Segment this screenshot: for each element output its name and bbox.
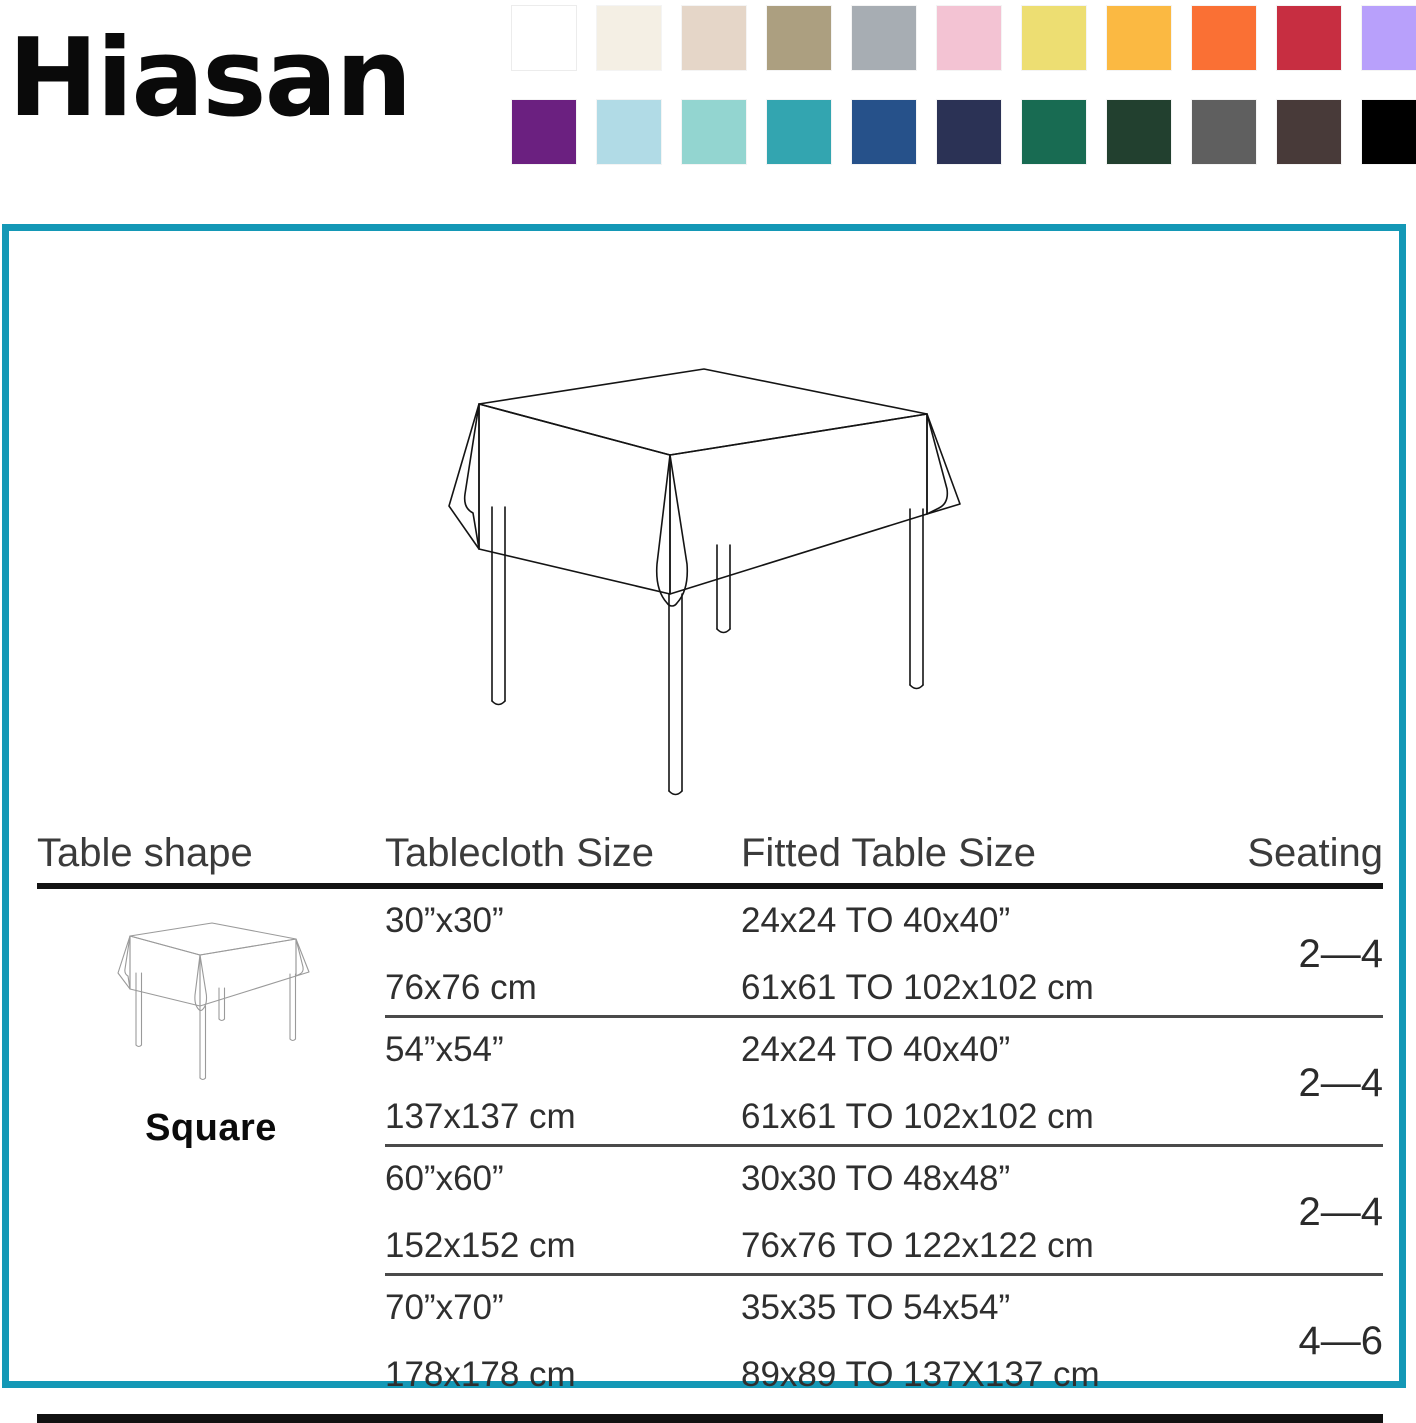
shape-cell-square: Square: [37, 889, 385, 1402]
fit-size-inches: 35x35 TO 54x54”: [741, 1290, 1189, 1325]
swatch-green[interactable]: [1022, 100, 1086, 164]
swatch-teal[interactable]: [767, 100, 831, 164]
square-table-illustration-icon: [427, 349, 977, 809]
cell-tablecloth-size: 30”x30” 76x76 cm: [385, 903, 741, 1005]
column-header-table-shape: Table shape: [37, 833, 385, 873]
swatch-yellow[interactable]: [1022, 6, 1086, 70]
seating-value: 2—4: [1299, 1063, 1384, 1103]
brand-logo: Hiasan: [8, 14, 478, 144]
swatch-dark-green[interactable]: [1107, 100, 1171, 164]
swatch-purple[interactable]: [512, 100, 576, 164]
column-header-fitted-table-size: Fitted Table Size: [741, 833, 1189, 873]
table-body: Square 30”x30” 76x76 cm 24x24 TO 40x40” …: [37, 889, 1383, 1402]
swatch-gray[interactable]: [852, 6, 916, 70]
cloth-size-cm: 137x137 cm: [385, 1099, 741, 1134]
swatch-pink[interactable]: [937, 6, 1001, 70]
swatch-navy[interactable]: [937, 100, 1001, 164]
cloth-size-inches: 70”x70”: [385, 1290, 741, 1325]
cell-fitted-table-size: 35x35 TO 54x54” 89x89 TO 137X137 cm: [741, 1290, 1189, 1392]
cloth-size-inches: 60”x60”: [385, 1161, 741, 1196]
cell-tablecloth-size: 70”x70” 178x178 cm: [385, 1290, 741, 1392]
seating-value: 4—6: [1299, 1321, 1384, 1361]
swatch-orange[interactable]: [1192, 6, 1256, 70]
fit-size-inches: 24x24 TO 40x40”: [741, 903, 1189, 938]
fit-size-inches: 30x30 TO 48x48”: [741, 1161, 1189, 1196]
brand-wordmark: Hiasan: [8, 25, 410, 133]
cloth-size-inches: 54”x54”: [385, 1032, 741, 1067]
swatch-light-blue[interactable]: [597, 100, 661, 164]
size-chart-table: Table shape Tablecloth Size Fitted Table…: [37, 811, 1383, 1423]
cell-tablecloth-size: 54”x54” 137x137 cm: [385, 1032, 741, 1134]
cloth-size-cm: 76x76 cm: [385, 970, 741, 1005]
table-row: 70”x70” 178x178 cm 35x35 TO 54x54” 89x89…: [385, 1276, 1383, 1402]
cell-tablecloth-size: 60”x60” 152x152 cm: [385, 1161, 741, 1263]
measurement-rows: 30”x30” 76x76 cm 24x24 TO 40x40” 61x61 T…: [385, 889, 1383, 1402]
swatch-taupe[interactable]: [767, 6, 831, 70]
swatch-ivory[interactable]: [597, 6, 661, 70]
shape-label-square: Square: [145, 1107, 277, 1150]
table-row: 54”x54” 137x137 cm 24x24 TO 40x40” 61x61…: [385, 1018, 1383, 1144]
swatch-black[interactable]: [1362, 100, 1416, 164]
cloth-size-inches: 30”x30”: [385, 903, 741, 938]
cell-seating: 2—4: [1189, 1032, 1383, 1134]
swatch-lavender[interactable]: [1362, 6, 1416, 70]
cell-fitted-table-size: 24x24 TO 40x40” 61x61 TO 102x102 cm: [741, 1032, 1189, 1134]
swatch-red[interactable]: [1277, 6, 1341, 70]
swatch-white[interactable]: [512, 6, 576, 70]
cloth-size-cm: 152x152 cm: [385, 1228, 741, 1263]
swatch-row-warm: [512, 6, 1408, 70]
swatch-aqua[interactable]: [682, 100, 746, 164]
size-chart-panel: Table shape Tablecloth Size Fitted Table…: [2, 224, 1406, 1388]
table-header-row: Table shape Tablecloth Size Fitted Table…: [37, 811, 1383, 873]
cell-fitted-table-size: 24x24 TO 40x40” 61x61 TO 102x102 cm: [741, 903, 1189, 1005]
fit-size-inches: 24x24 TO 40x40”: [741, 1032, 1189, 1067]
cloth-size-cm: 178x178 cm: [385, 1357, 741, 1392]
swatch-blue[interactable]: [852, 100, 916, 164]
fit-size-cm: 61x61 TO 102x102 cm: [741, 1099, 1189, 1134]
color-swatch-grid: [512, 6, 1408, 176]
cell-seating: 2—4: [1189, 1161, 1383, 1263]
swatch-gold[interactable]: [1107, 6, 1171, 70]
swatch-beige[interactable]: [682, 6, 746, 70]
swatch-row-cool: [512, 100, 1408, 164]
seating-value: 2—4: [1299, 934, 1384, 974]
fit-size-cm: 89x89 TO 137X137 cm: [741, 1357, 1189, 1392]
column-header-tablecloth-size: Tablecloth Size: [385, 833, 741, 873]
cell-fitted-table-size: 30x30 TO 48x48” 76x76 TO 122x122 cm: [741, 1161, 1189, 1263]
square-table-mini-icon: [106, 915, 316, 1085]
swatch-brown[interactable]: [1277, 100, 1341, 164]
fit-size-cm: 61x61 TO 102x102 cm: [741, 970, 1189, 1005]
cell-seating: 4—6: [1189, 1290, 1383, 1392]
cell-seating: 2—4: [1189, 903, 1383, 1005]
table-row: 30”x30” 76x76 cm 24x24 TO 40x40” 61x61 T…: [385, 889, 1383, 1015]
swatch-charcoal[interactable]: [1192, 100, 1256, 164]
fit-size-cm: 76x76 TO 122x122 cm: [741, 1228, 1189, 1263]
table-bottom-divider: [37, 1414, 1383, 1423]
table-row: 60”x60” 152x152 cm 30x30 TO 48x48” 76x76…: [385, 1147, 1383, 1273]
seating-value: 2—4: [1299, 1192, 1384, 1232]
column-header-seating: Seating: [1189, 833, 1383, 873]
